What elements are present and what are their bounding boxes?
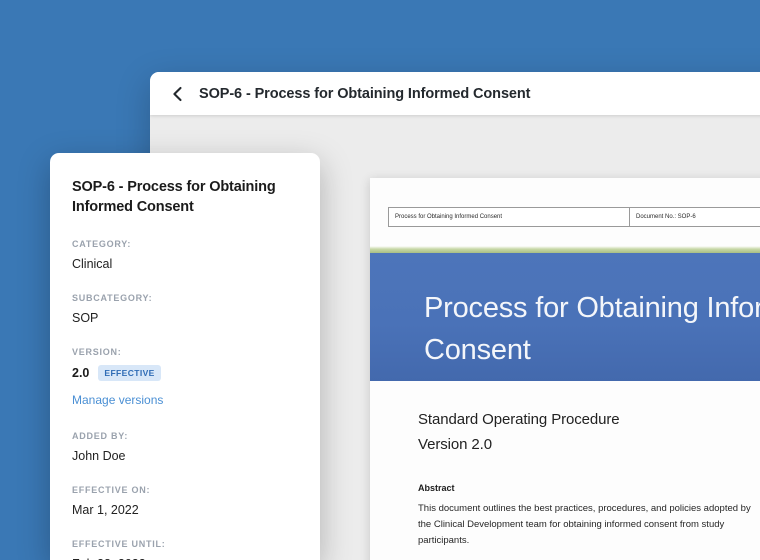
document-accent-strip (370, 246, 760, 253)
field-category: CATEGORY: Clinical (72, 239, 298, 271)
field-version: VERSION: 2.0 EFFECTIVE Manage versions (72, 347, 298, 409)
field-label-subcategory: SUBCATEGORY: (72, 293, 298, 303)
detail-card-title: SOP-6 - Process for Obtaining Informed C… (72, 177, 298, 217)
document-subtitle-line1: Standard Operating Procedure (418, 407, 760, 432)
field-subcategory: SUBCATEGORY: SOP (72, 293, 298, 325)
document-abstract-body: This document outlines the best practice… (418, 501, 758, 549)
field-label-effective-on: EFFECTIVE ON: (72, 485, 298, 495)
field-value-added-by: John Doe (72, 449, 298, 463)
document-banner-title: Process for Obtaining Informed Consent (424, 287, 760, 371)
doc-header-cell-title: Process for Obtaining Informed Consent (389, 208, 630, 226)
status-badge: EFFECTIVE (98, 365, 160, 381)
doc-header-cell-number: Document No.: SOP-6 (630, 208, 760, 226)
back-button[interactable] (164, 81, 190, 107)
document-subtitle-line2: Version 2.0 (418, 432, 760, 457)
field-effective-until: EFFECTIVE UNTIL: Feb 28, 2023 (72, 539, 298, 560)
document-title-banner: Process for Obtaining Informed Consent (370, 253, 760, 381)
field-label-effective-until: EFFECTIVE UNTIL: (72, 539, 298, 549)
document-body-content: Standard Operating Procedure Version 2.0… (370, 381, 760, 549)
field-label-added-by: ADDED BY: (72, 431, 298, 441)
document-page-preview[interactable]: Process for Obtaining Informed Consent D… (370, 178, 760, 560)
field-label-version: VERSION: (72, 347, 298, 357)
field-label-category: CATEGORY: (72, 239, 298, 249)
field-effective-on: EFFECTIVE ON: Mar 1, 2022 (72, 485, 298, 517)
manage-versions-link[interactable]: Manage versions (72, 393, 163, 407)
field-value-effective-on: Mar 1, 2022 (72, 503, 298, 517)
document-header-table: Process for Obtaining Informed Consent D… (388, 207, 760, 227)
document-detail-card: SOP-6 - Process for Obtaining Informed C… (50, 153, 320, 560)
chevron-left-icon (171, 86, 184, 102)
field-value-subcategory: SOP (72, 311, 298, 325)
field-added-by: ADDED BY: John Doe (72, 431, 298, 463)
viewer-header-bar: SOP-6 - Process for Obtaining Informed C… (150, 72, 760, 115)
document-abstract-heading: Abstract (418, 483, 760, 493)
version-number: 2.0 (72, 366, 89, 380)
version-row: 2.0 EFFECTIVE (72, 365, 298, 381)
viewer-title: SOP-6 - Process for Obtaining Informed C… (199, 86, 530, 102)
field-value-category: Clinical (72, 257, 298, 271)
